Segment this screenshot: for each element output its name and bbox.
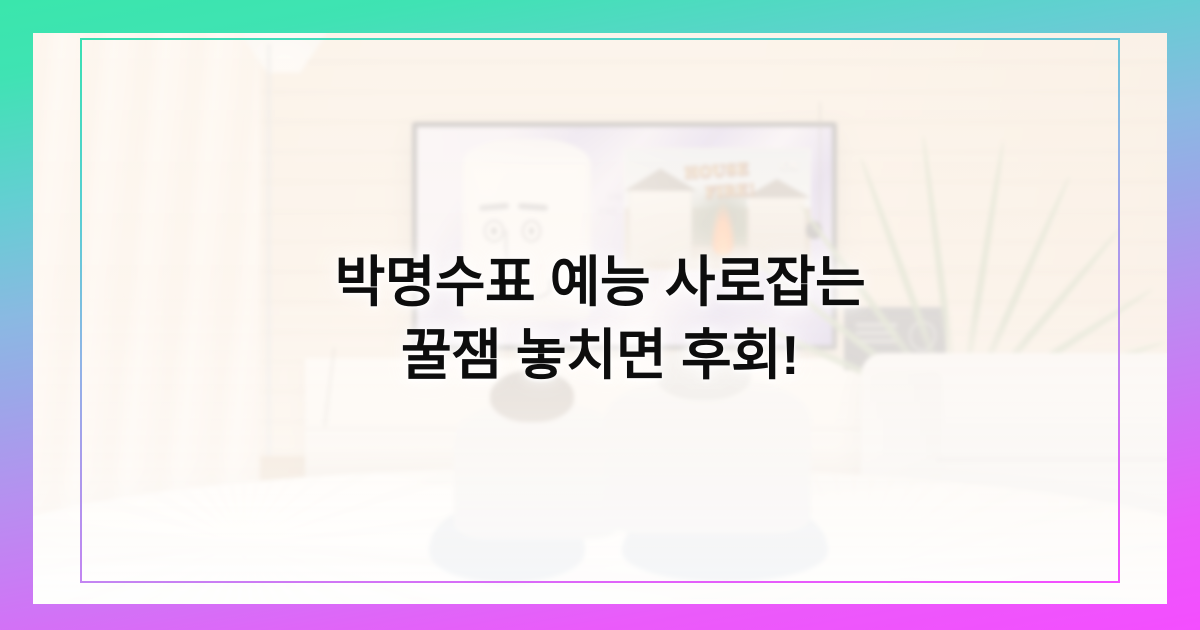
sheer-curtain — [33, 33, 260, 524]
floor-lamp-pole — [267, 44, 271, 455]
photo-plate: UNDER THE HOUSE AND SPREADING FAST HOUSE… — [33, 33, 1167, 604]
child-left-head — [490, 370, 573, 422]
television: UNDER THE HOUSE AND SPREADING FAST HOUSE… — [412, 122, 837, 350]
screen-glare — [417, 127, 832, 345]
sofa-seam — [936, 458, 1167, 461]
child-left-body — [454, 405, 621, 540]
living-room-photo: UNDER THE HOUSE AND SPREADING FAST HOUSE… — [33, 33, 1167, 604]
tv-screen: UNDER THE HOUSE AND SPREADING FAST HOUSE… — [417, 127, 832, 345]
child-right-head — [656, 347, 751, 400]
potted-plant — [781, 33, 1144, 398]
thumbnail-card: UNDER THE HOUSE AND SPREADING FAST HOUSE… — [0, 0, 1200, 630]
child-right — [600, 347, 815, 587]
child-right-body — [604, 381, 811, 534]
